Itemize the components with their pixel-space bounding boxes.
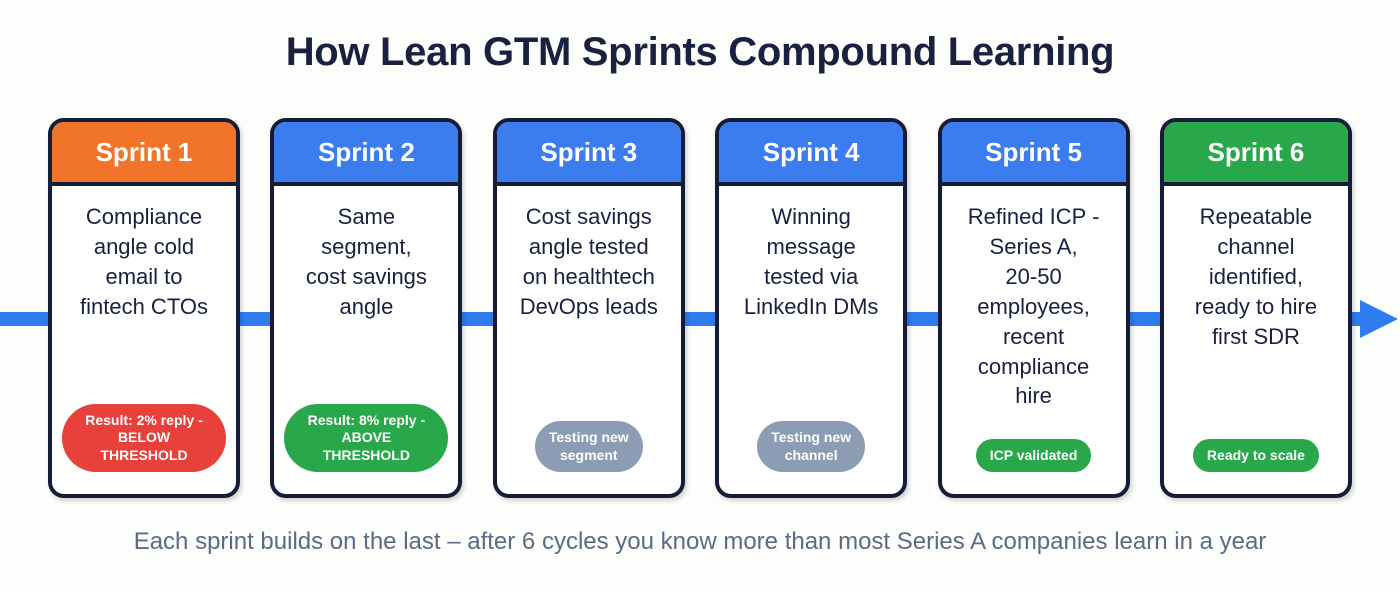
sprint-card-5[interactable]: Sprint 5 Refined ICP - Series A, 20-50 e…: [938, 118, 1130, 498]
sprint-card-4[interactable]: Sprint 4 Winning message tested via Link…: [715, 118, 907, 498]
sprint-card-3[interactable]: Sprint 3 Cost savings angle tested on he…: [493, 118, 685, 498]
sprint-card-4-body: Winning message tested via LinkedIn DMs …: [719, 186, 903, 494]
sprint-card-2[interactable]: Sprint 2 Same segment, cost savings angl…: [270, 118, 462, 498]
sprint-card-1-header: Sprint 1: [52, 122, 236, 186]
sprint-card-3-status-badge: Testing new segment: [535, 421, 643, 472]
sprint-card-6-body: Repeatable channel identified, ready to …: [1164, 186, 1348, 494]
sprint-card-6-header: Sprint 6: [1164, 122, 1348, 186]
sprint-card-5-status-badge: ICP validated: [976, 439, 1092, 473]
sprint-card-5-body: Refined ICP - Series A, 20-50 employees,…: [942, 186, 1126, 494]
flow-arrow-icon: [1360, 300, 1398, 338]
sprint-card-2-text: Same segment, cost savings angle: [306, 202, 427, 322]
sprint-card-3-header: Sprint 3: [497, 122, 681, 186]
sprint-card-2-status-badge: Result: 8% reply - ABOVE THRESHOLD: [284, 404, 448, 473]
diagram-canvas: How Lean GTM Sprints Compound Learning S…: [0, 0, 1400, 593]
sprint-card-4-header: Sprint 4: [719, 122, 903, 186]
sprint-card-1-badge-slot: Result: 2% reply - BELOW THRESHOLD: [62, 404, 226, 483]
sprint-card-6-status-badge: Ready to scale: [1193, 439, 1319, 473]
connector-segment-0: [0, 312, 52, 326]
sprint-card-5-badge-slot: ICP validated: [952, 439, 1116, 483]
sprint-card-4-text: Winning message tested via LinkedIn DMs: [744, 202, 879, 322]
sprint-card-3-body: Cost savings angle tested on healthtech …: [497, 186, 681, 494]
sprint-card-1-body: Compliance angle cold email to fintech C…: [52, 186, 236, 494]
sprint-card-6-badge-slot: Ready to scale: [1174, 439, 1338, 483]
page-title: How Lean GTM Sprints Compound Learning: [0, 30, 1400, 74]
sprint-card-3-text: Cost savings angle tested on healthtech …: [520, 202, 658, 322]
sprint-card-1-status-badge: Result: 2% reply - BELOW THRESHOLD: [62, 404, 226, 473]
sprint-card-2-header: Sprint 2: [274, 122, 458, 186]
sprint-card-2-body: Same segment, cost savings angle Result:…: [274, 186, 458, 494]
sprint-card-6[interactable]: Sprint 6 Repeatable channel identified, …: [1160, 118, 1352, 498]
sprint-card-row: Sprint 1 Compliance angle cold email to …: [48, 118, 1352, 498]
footer-caption: Each sprint builds on the last – after 6…: [0, 528, 1400, 556]
sprint-card-5-header: Sprint 5: [942, 122, 1126, 186]
sprint-card-1[interactable]: Sprint 1 Compliance angle cold email to …: [48, 118, 240, 498]
sprint-card-5-text: Refined ICP - Series A, 20-50 employees,…: [968, 202, 1100, 411]
sprint-card-4-status-badge: Testing new channel: [757, 421, 865, 472]
sprint-card-1-text: Compliance angle cold email to fintech C…: [80, 202, 208, 322]
sprint-card-2-badge-slot: Result: 8% reply - ABOVE THRESHOLD: [284, 404, 448, 483]
sprint-card-3-badge-slot: Testing new segment: [507, 421, 671, 482]
sprint-card-6-text: Repeatable channel identified, ready to …: [1195, 202, 1317, 352]
sprint-card-4-badge-slot: Testing new channel: [729, 421, 893, 482]
